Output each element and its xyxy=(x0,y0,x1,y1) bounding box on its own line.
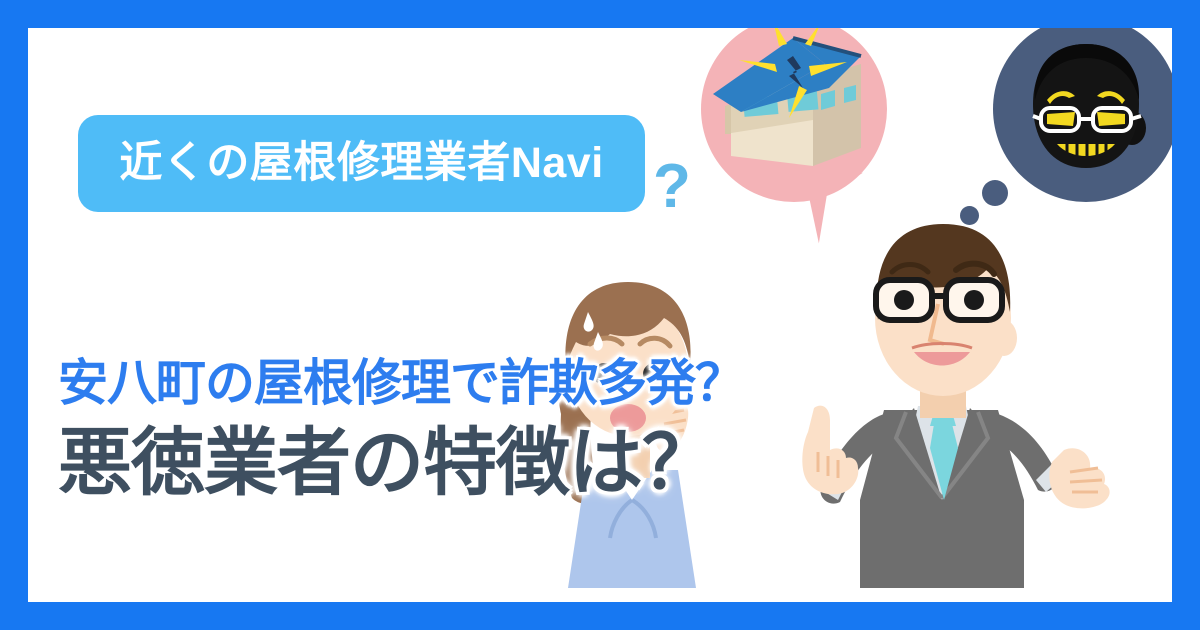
site-name-badge[interactable]: 近くの屋根修理業者Navi xyxy=(78,115,645,212)
businessman-pointing-illustration xyxy=(788,200,1118,602)
content-area: 近くの屋根修理業者Navi ? 安八町の屋根修理で詐欺多発？ 悪徳業者の特徴は？ xyxy=(28,28,1172,602)
headline-block: 安八町の屋根修理で詐欺多発？ 悪徳業者の特徴は？ xyxy=(58,358,744,500)
damaged-house-icon xyxy=(701,28,887,202)
headline-line-1: 安八町の屋根修理で詐欺多発？ xyxy=(58,358,744,408)
question-mark-decoration: ? xyxy=(653,156,691,218)
shady-contractor-face-icon xyxy=(993,28,1172,202)
thumbnail-canvas: 近くの屋根修理業者Navi ? 安八町の屋根修理で詐欺多発？ 悪徳業者の特徴は？ xyxy=(0,0,1200,630)
site-name-label: 近くの屋根修理業者Navi xyxy=(119,142,603,185)
headline-line-2: 悪徳業者の特徴は？ xyxy=(58,426,744,500)
